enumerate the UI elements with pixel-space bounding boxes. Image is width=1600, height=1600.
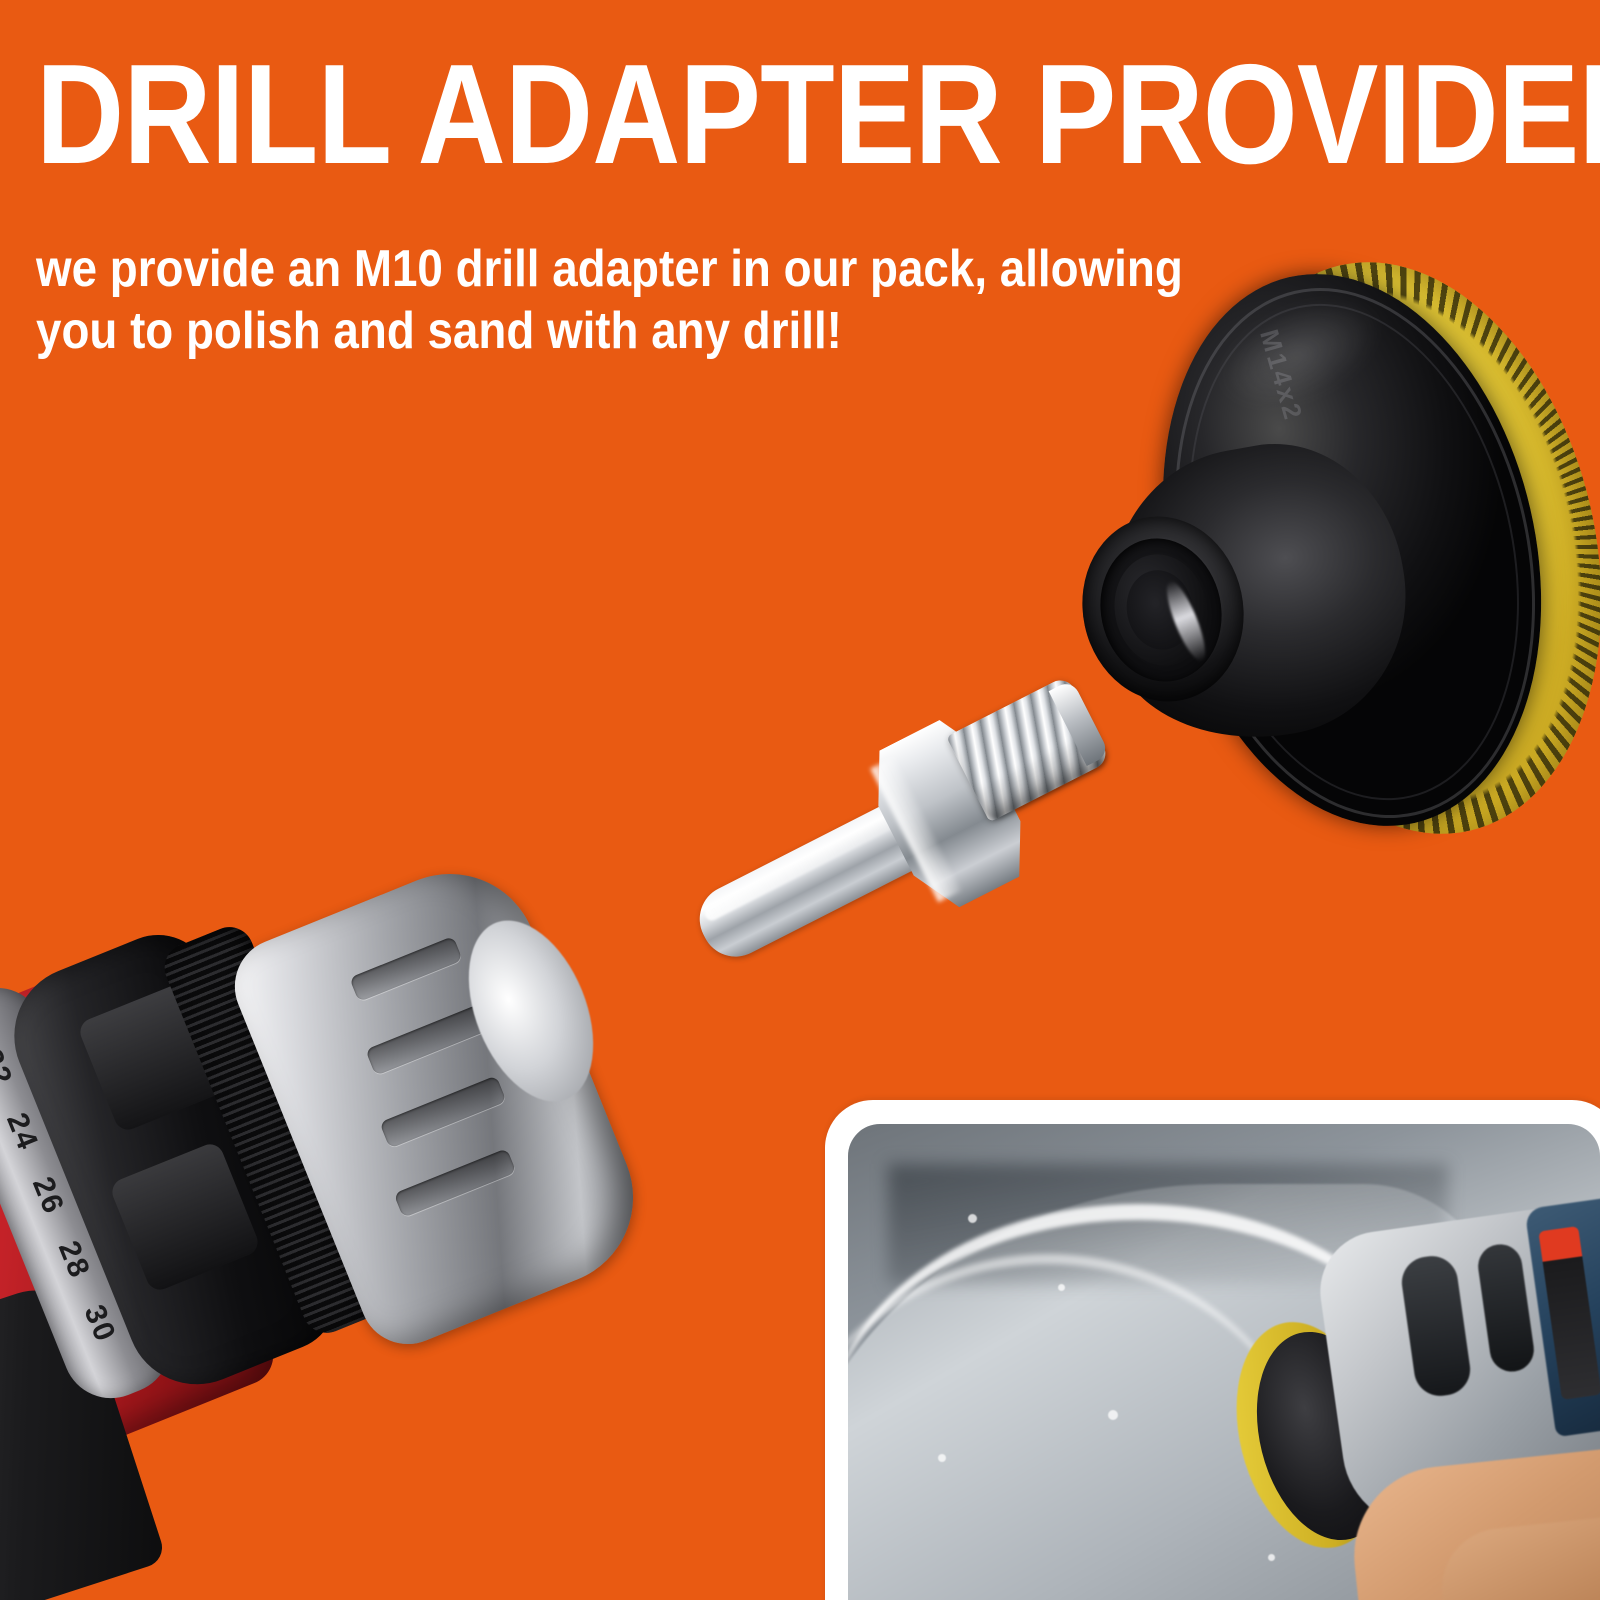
page-title: DRILL ADAPTER PROVIDED. [36, 44, 1600, 186]
inset-photo [848, 1124, 1600, 1600]
clutch-number: 24 [0, 1108, 45, 1155]
cordless-drill-graphic: ✚ 22 24 26 28 30 [0, 830, 700, 1600]
clutch-number: 30 [77, 1300, 123, 1347]
page-subtitle: we provide an M10 drill adapter in our p… [36, 238, 1183, 362]
clutch-number: 28 [51, 1236, 97, 1283]
clutch-number: 26 [25, 1172, 71, 1219]
photo-water-speck [1058, 1284, 1065, 1291]
photo-water-speck [968, 1214, 977, 1223]
photo-water-speck [938, 1454, 946, 1462]
photo-water-speck [1108, 1410, 1118, 1420]
photo-water-speck [1268, 1554, 1275, 1561]
promo-banner: M14x2 150 ✚ 22 24 26 28 30 [0, 0, 1600, 1600]
